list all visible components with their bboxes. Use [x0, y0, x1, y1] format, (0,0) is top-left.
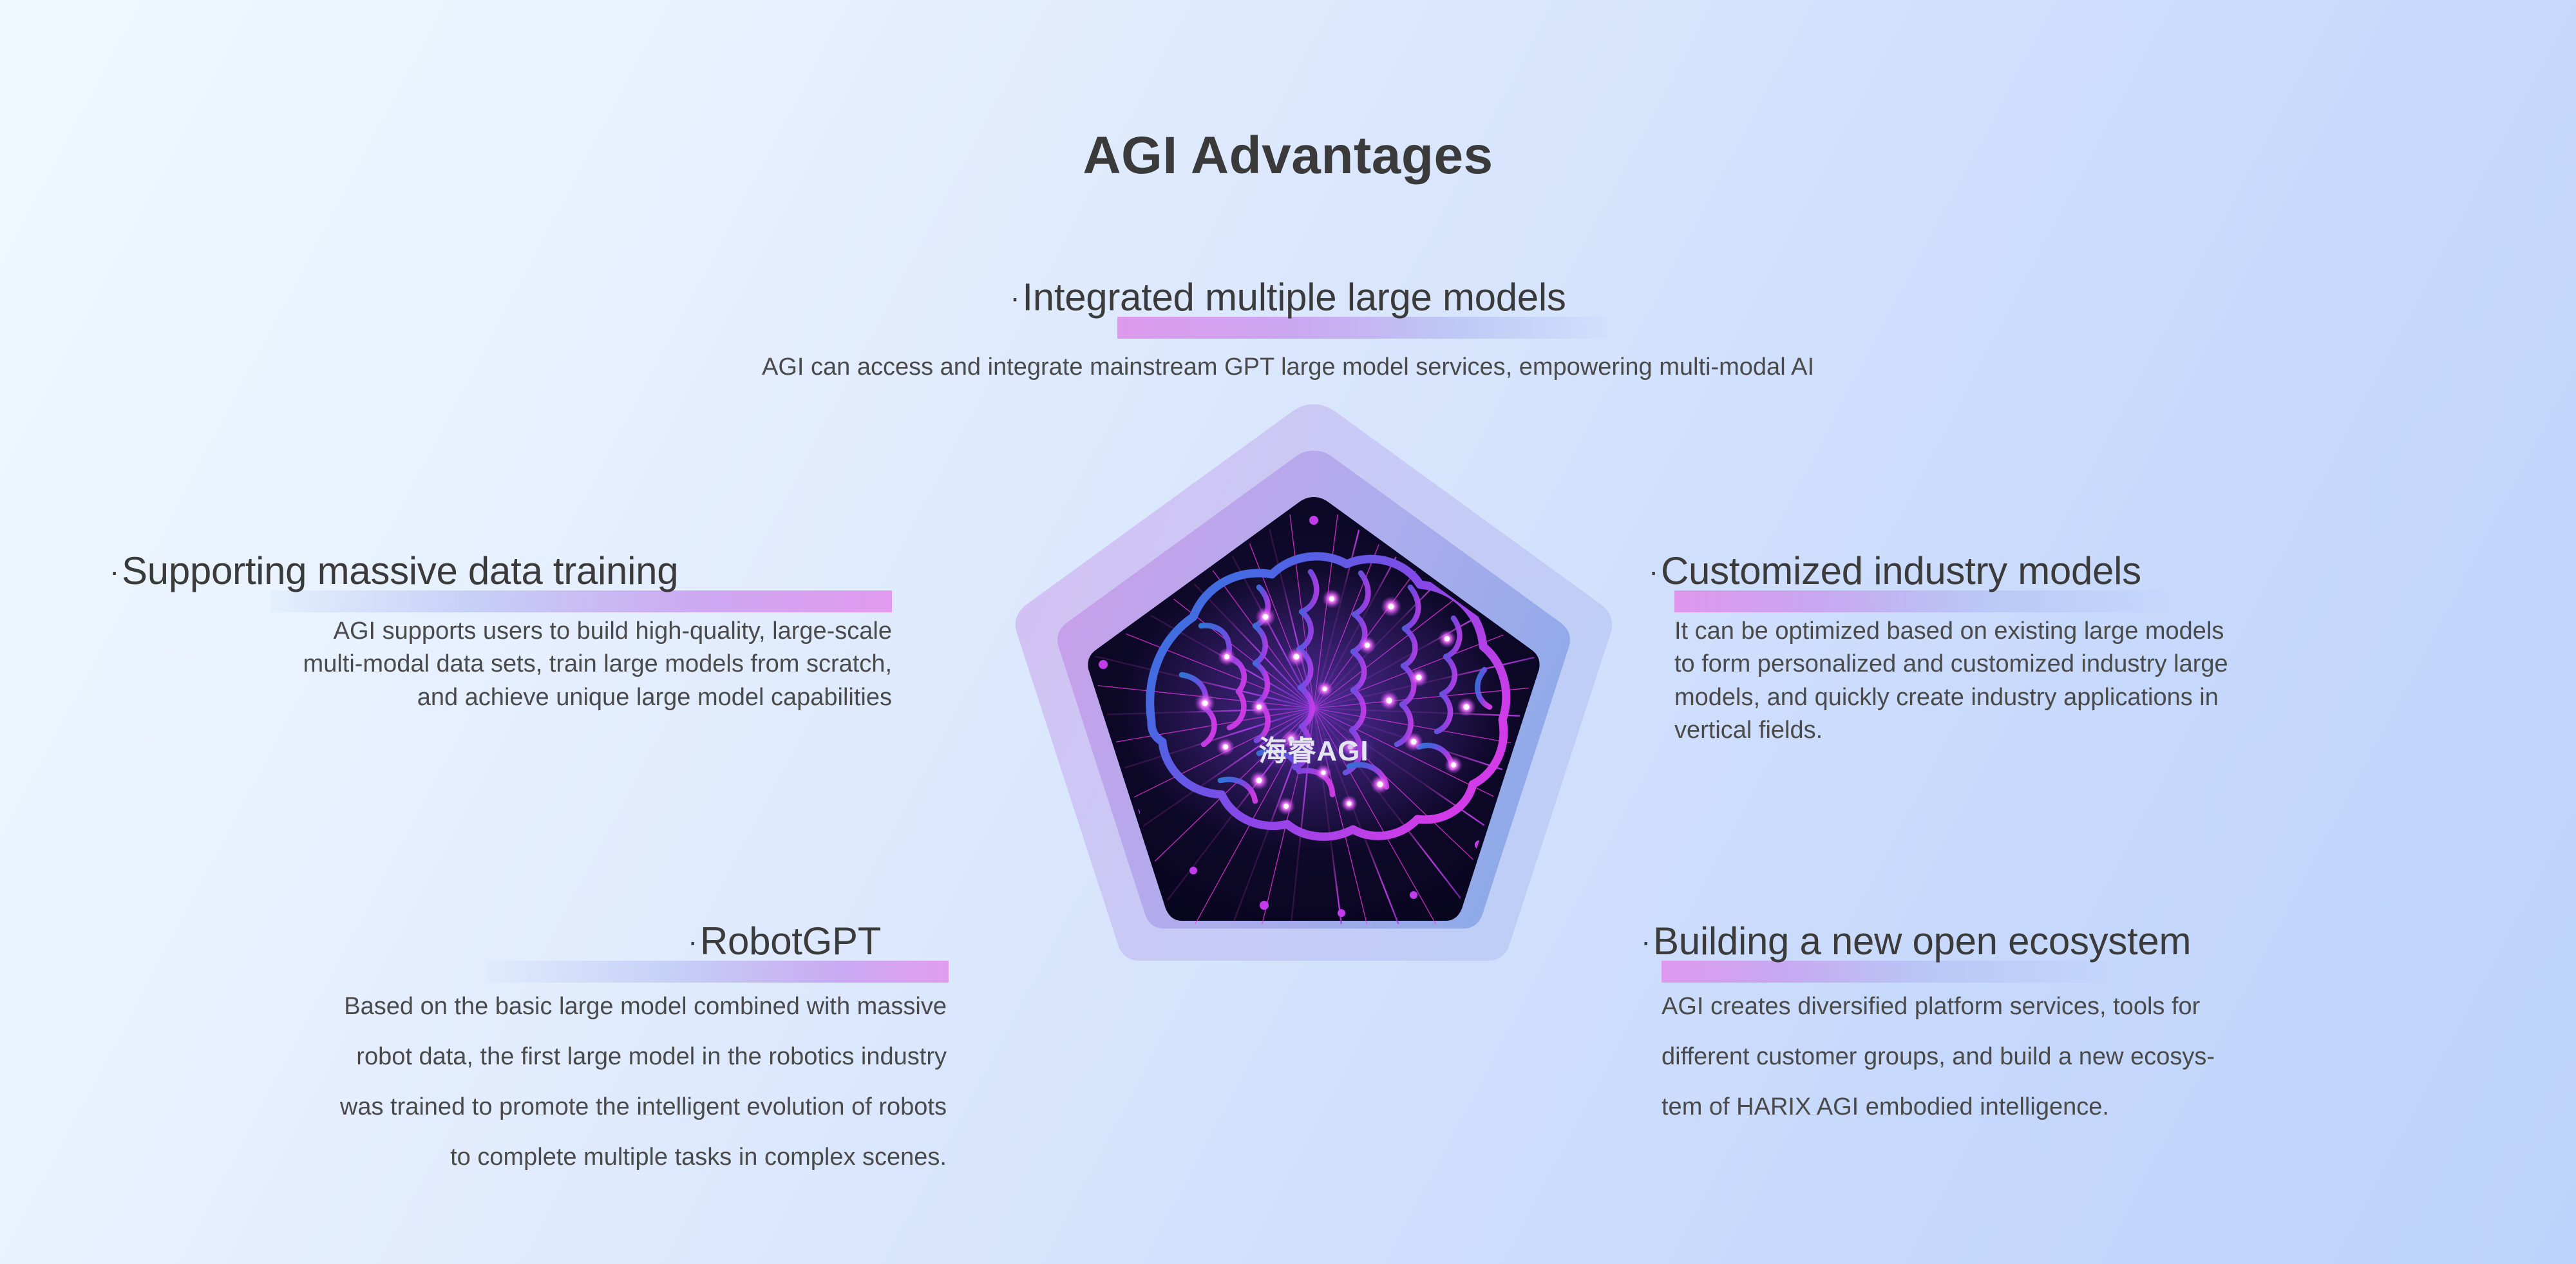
bullet-icon-top: · — [1010, 281, 1019, 314]
advantage-heading-left-lower-label: RobotGPT — [700, 920, 881, 963]
advantage-body-left-upper: AGI supports users to build high-quality… — [0, 615, 892, 714]
bullet-icon-right-lower: · — [1641, 925, 1651, 958]
advantage-heading-right-lower: ·Building a new open ecosystem — [1641, 921, 2191, 961]
highlight-bar-right-upper — [1674, 590, 2170, 612]
bullet-icon-right-upper: · — [1649, 554, 1658, 588]
highlight-bar-left-upper — [270, 590, 892, 612]
advantage-heading-left-lower: ·RobotGPT — [688, 921, 881, 961]
advantage-body-right-upper: It can be optimized based on existing la… — [1674, 615, 2531, 747]
advantage-body-right-lower: AGI creates diversified platform service… — [1662, 982, 2518, 1133]
highlight-bar-right-lower — [1662, 961, 2112, 983]
highlight-bar-left-lower — [486, 961, 949, 983]
bullet-icon-left-upper: · — [109, 554, 119, 588]
advantage-heading-top: ·Integrated multiple large models — [0, 277, 2576, 317]
advantage-heading-left-upper: ·Supporting massive data training — [109, 551, 678, 591]
brain-center-label: 海睿AGI — [989, 728, 1639, 769]
advantage-heading-right-lower-label: Building a new open ecosystem — [1653, 920, 2191, 963]
highlight-bar-top — [1117, 317, 1607, 339]
advantage-heading-right-upper: ·Customized industry models — [1649, 551, 2141, 591]
advantage-heading-left-upper-label: Supporting massive data training — [122, 549, 678, 592]
advantage-body-left-lower: Based on the basic large model combined … — [0, 982, 947, 1183]
advantage-body-top: AGI can access and integrate mainstream … — [0, 351, 2576, 384]
advantage-heading-top-label: Integrated multiple large models — [1022, 276, 1566, 319]
page-title: AGI Advantages — [0, 126, 2576, 186]
advantage-heading-right-upper-label: Customized industry models — [1661, 549, 2141, 592]
bullet-icon-left-lower: · — [688, 925, 697, 958]
